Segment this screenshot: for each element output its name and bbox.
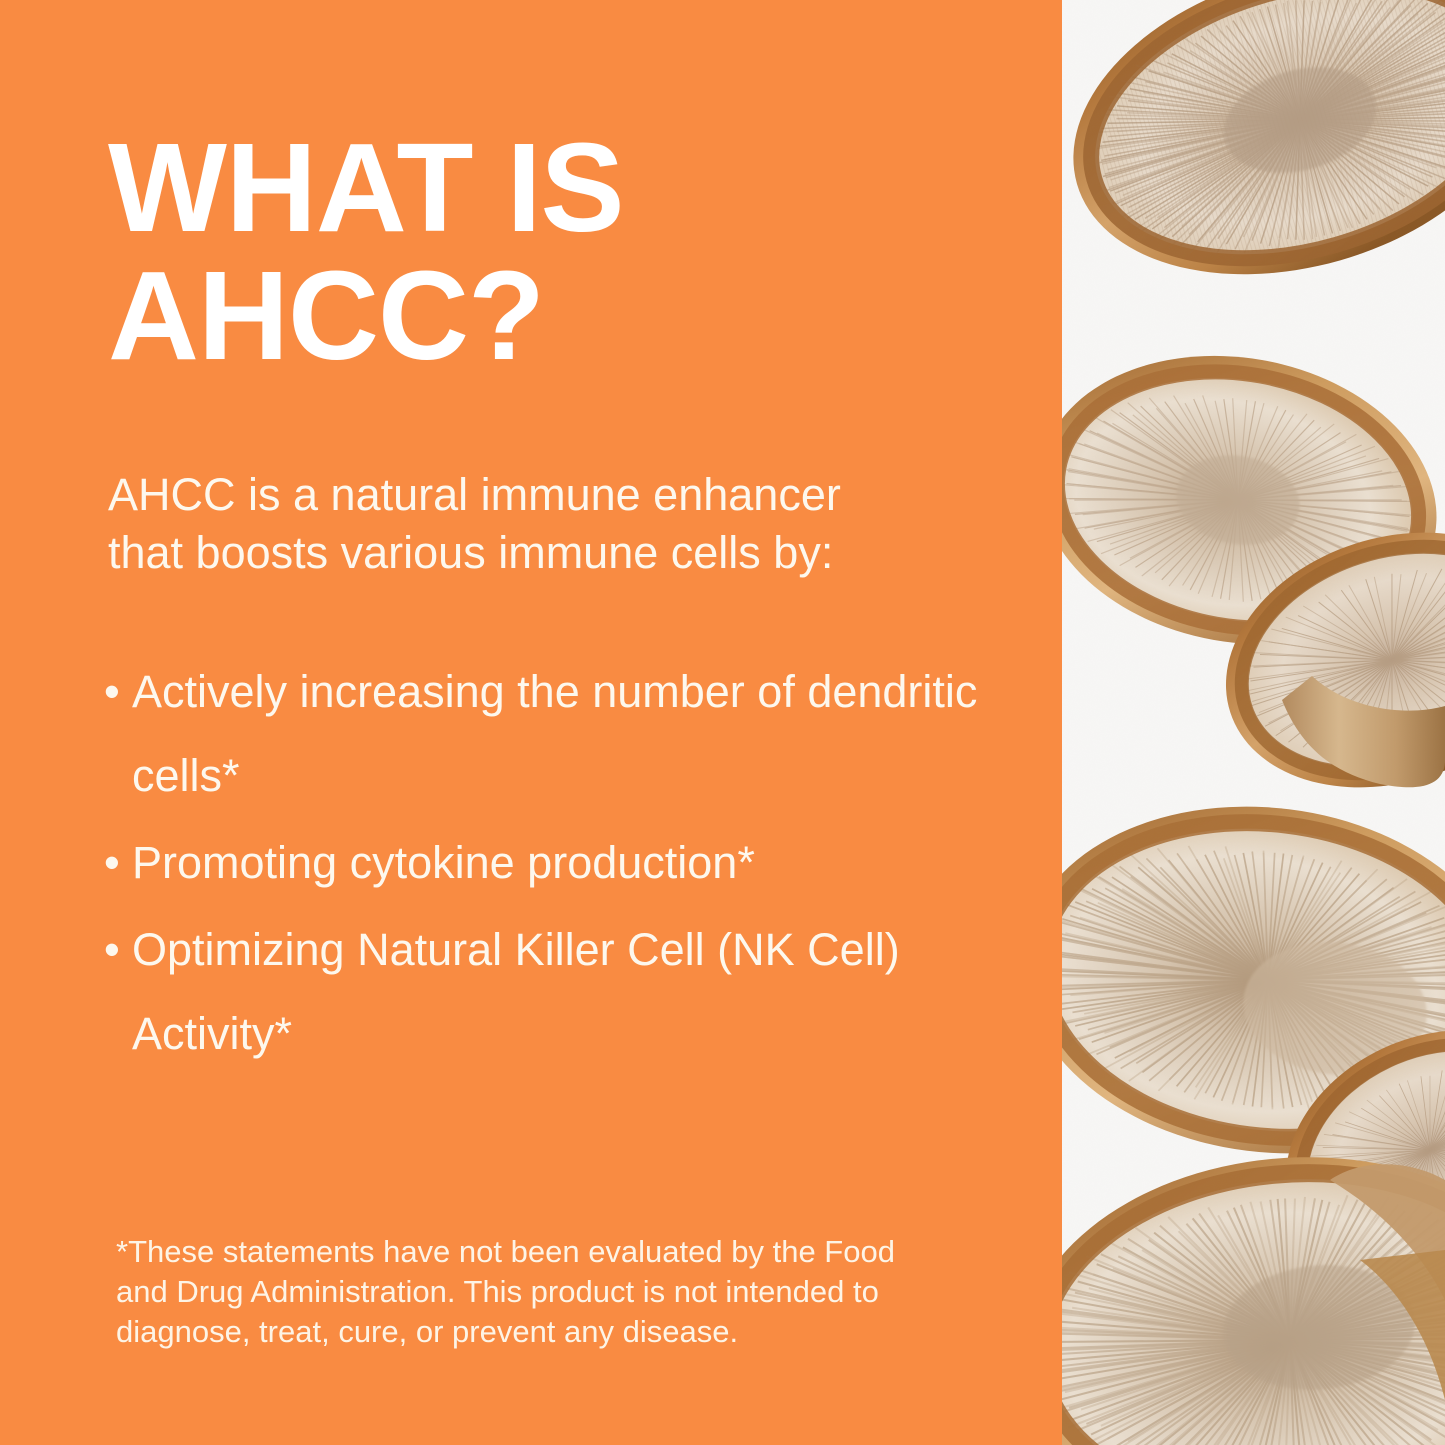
- list-item-label: Optimizing Natural Killer Cell (NK Cell)…: [132, 924, 900, 1059]
- infographic-canvas: WHAT IS AHCC? AHCC is a natural immune e…: [0, 0, 1445, 1445]
- page-title: WHAT IS AHCC?: [108, 124, 988, 380]
- intro-paragraph: AHCC is a natural immune enhancer that b…: [108, 466, 968, 582]
- list-item: • Optimizing Natural Killer Cell (NK Cel…: [100, 908, 980, 1076]
- bullet-icon: •: [104, 908, 120, 992]
- list-item: • Promoting cytokine production*: [100, 821, 980, 905]
- fda-disclaimer: *These statements have not been evaluate…: [116, 1232, 946, 1352]
- list-item-label: Actively increasing the number of dendri…: [132, 666, 977, 801]
- list-item: • Actively increasing the number of dend…: [100, 650, 980, 818]
- mushroom-illustration: [1000, 0, 1445, 1445]
- panel-content: WHAT IS AHCC? AHCC is a natural immune e…: [0, 0, 1062, 1445]
- bullet-icon: •: [104, 650, 120, 734]
- bullet-icon: •: [104, 821, 120, 905]
- list-item-label: Promoting cytokine production*: [132, 837, 755, 888]
- mushroom-photo-column: [1000, 0, 1445, 1445]
- benefits-list: • Actively increasing the number of dend…: [100, 650, 980, 1079]
